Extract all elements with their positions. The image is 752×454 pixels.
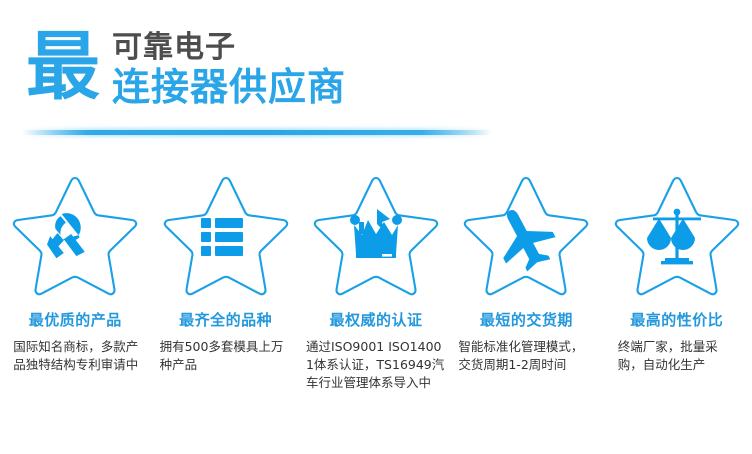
feature-body: 拥有500多套模具上万种产品 (160, 338, 294, 374)
star-badge (156, 172, 296, 300)
star-badge (5, 172, 145, 300)
feature-item: 最短的交货期 智能标准化管理模式，交货周期1-2周时间 (451, 172, 601, 391)
balance-scale-icon (647, 209, 701, 265)
star-badge (456, 172, 596, 300)
feature-list: 最优质的产品 国际知名商标，多款产品独特结构专利审请中 最齐全的品种 拥有500… (0, 172, 752, 391)
feature-body: 通过ISO9001 ISO14001体系认证，TS16949汽车行业管理体系导入… (306, 338, 446, 391)
crown-icon (350, 209, 402, 258)
feature-item: 最优质的产品 国际知名商标，多款产品独特结构专利审请中 (0, 172, 150, 391)
headline: 最 可靠电子 连接器供应商 (26, 30, 346, 108)
feature-item: 最齐全的品种 拥有500多套模具上万种产品 (150, 172, 300, 391)
feature-title: 最优质的产品 (29, 309, 122, 330)
airplane-icon (485, 197, 564, 278)
star-badge (306, 172, 446, 300)
feature-title: 最齐全的品种 (179, 309, 272, 330)
divider-line (22, 130, 492, 135)
feature-title: 最权威的认证 (329, 309, 422, 330)
feature-title: 最短的交货期 (480, 309, 573, 330)
banner: 最 可靠电子 连接器供应商 (0, 0, 752, 150)
feature-body: 智能标准化管理模式，交货周期1-2周时间 (458, 338, 594, 374)
feature-title: 最高的性价比 (630, 309, 723, 330)
headline-line-blue: 连接器供应商 (112, 67, 346, 108)
satellite-dish-icon (47, 213, 85, 258)
headline-line-gray: 可靠电子 (112, 31, 346, 65)
feature-item: 最高的性价比 终端厂家，批量采购，自动化生产 (602, 172, 752, 391)
feature-body: 国际知名商标，多款产品独特结构专利审请中 (13, 338, 141, 374)
headline-big-character: 最 (26, 32, 100, 102)
feature-item: 最权威的认证 通过ISO9001 ISO14001体系认证，TS16949汽车行… (301, 172, 451, 391)
list-grid-icon (201, 218, 243, 256)
feature-body: 终端厂家，批量采购，自动化生产 (618, 338, 736, 374)
star-badge (607, 172, 747, 300)
headline-text-block: 可靠电子 连接器供应商 (112, 31, 346, 108)
